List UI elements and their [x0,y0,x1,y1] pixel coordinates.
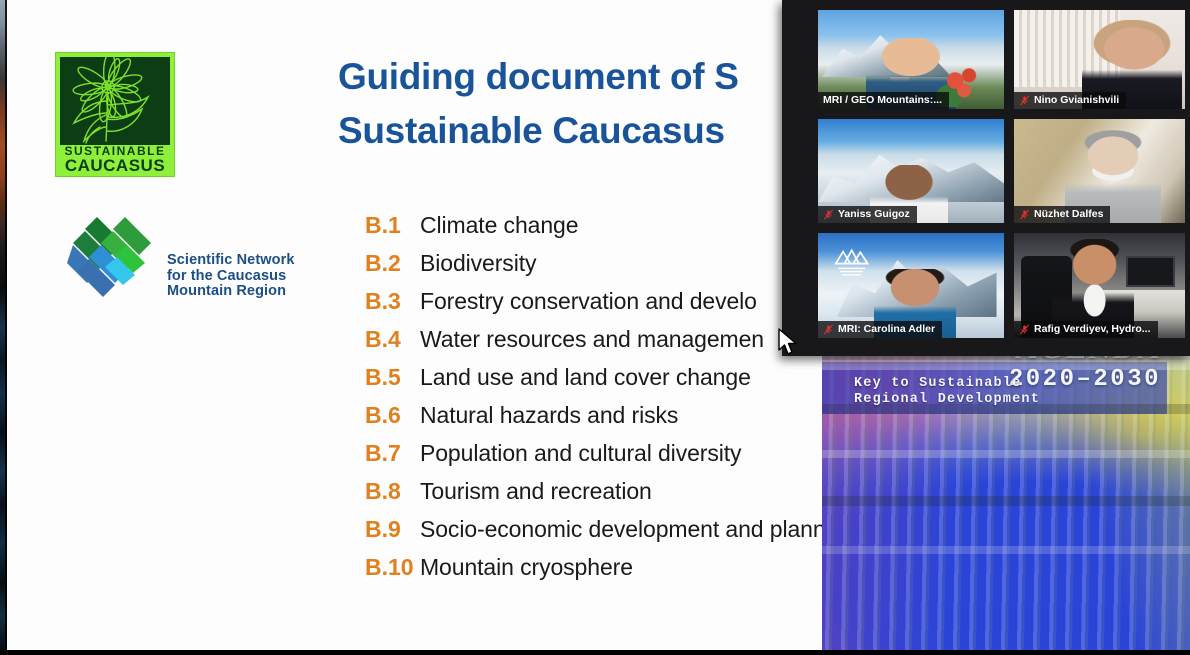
mouse-cursor-icon [778,328,800,358]
book-cover-subtitle-line-2: Regional Development [854,392,1040,408]
edelweiss-flower-icon [60,57,170,145]
mute-microphone-icon [1019,209,1030,220]
topic-label: Natural hazards and risks [420,402,678,429]
tile-name-badge: MRI: Carolina Adler [818,321,942,338]
video-gallery-panel[interactable]: MRI / GEO Mountains:...Nino Gvianishvili… [782,0,1190,356]
video-tile[interactable]: MRI: Carolina Adler [813,228,1009,343]
adjacent-window-sliver [0,0,7,655]
tile-participant-name: Yaniss Guigoz [838,208,910,220]
mute-microphone-icon [1019,324,1030,335]
screen-bottom-border [0,650,1190,655]
topic-key: B.9 [365,516,420,543]
topic-label: Water resources and managemen [420,326,764,353]
video-tile[interactable]: Rafig Verdiyev, Hydro... [1009,228,1190,343]
topic-key: B.5 [365,364,420,391]
screen-root: SUSTAINABLE CAUCASUS Scientific [0,0,1190,655]
sn-line-2: for the Caucasus [167,269,295,285]
topic-key: B.1 [365,212,420,239]
sustainable-caucasus-logo: SUSTAINABLE CAUCASUS [55,52,175,177]
tile-participant-name: MRI: Carolina Adler [838,323,935,335]
tile-name-badge: Nino Gvianishvili [1014,92,1126,109]
topic-key: B.7 [365,440,420,467]
topic-key: B.3 [365,288,420,315]
tile-name-badge: Rafig Verdiyev, Hydro... [1014,321,1158,338]
topic-label: Population and cultural diversity [420,440,741,467]
topic-label: Biodiversity [420,250,536,277]
topic-key: B.6 [365,402,420,429]
sn-line-1: Scientific Network [167,253,295,269]
topic-label: Tourism and recreation [420,478,652,505]
topic-label: Socio-economic development and planning [420,516,856,543]
topic-label: Forestry conservation and develo [420,288,757,315]
mute-microphone-icon [1019,95,1030,106]
topic-label: Land use and land cover change [420,364,751,391]
topic-key: B.4 [365,326,420,353]
video-tile[interactable]: Nino Gvianishvili [1009,5,1190,114]
scientific-network-text: Scientific Network for the Caucasus Moun… [167,253,295,300]
logo-word-caucasus: CAUCASUS [55,156,175,176]
topic-key: B.10 [365,554,420,581]
tile-name-badge: Yaniss Guigoz [818,206,917,223]
video-tile-grid: MRI / GEO Mountains:...Nino Gvianishvili… [813,5,1190,352]
mri-mountain-logo-icon [827,241,879,281]
tile-participant-name: Rafig Verdiyev, Hydro... [1034,323,1151,335]
diamond-mountain-logo-icon [67,215,167,310]
video-tile[interactable]: Yaniss Guigoz [813,114,1009,228]
tile-participant-name: Nüzhet Dalfes [1034,208,1103,220]
mute-microphone-icon [823,209,834,220]
video-tile[interactable]: Nüzhet Dalfes [1009,114,1190,228]
tile-participant-name: MRI / GEO Mountains:... [823,94,942,106]
video-tile[interactable]: MRI / GEO Mountains:... [813,5,1009,114]
tile-name-badge: Nüzhet Dalfes [1014,206,1110,223]
mute-microphone-icon [823,324,834,335]
sn-line-3: Mountain Region [167,284,295,300]
scientific-network-logo: Scientific Network for the Caucasus Moun… [67,215,327,315]
tile-participant-name: Nino Gvianishvili [1034,94,1119,106]
topic-label: Mountain cryosphere [420,554,633,581]
tile-name-badge: MRI / GEO Mountains:... [818,92,949,109]
topic-key: B.8 [365,478,420,505]
book-cover-subtitle-line-1: Key to Sustainable [854,376,1040,392]
topic-label: Climate change [420,212,578,239]
topic-key: B.2 [365,250,420,277]
book-cover-subtitle: Key to Sustainable Regional Development [854,376,1040,408]
